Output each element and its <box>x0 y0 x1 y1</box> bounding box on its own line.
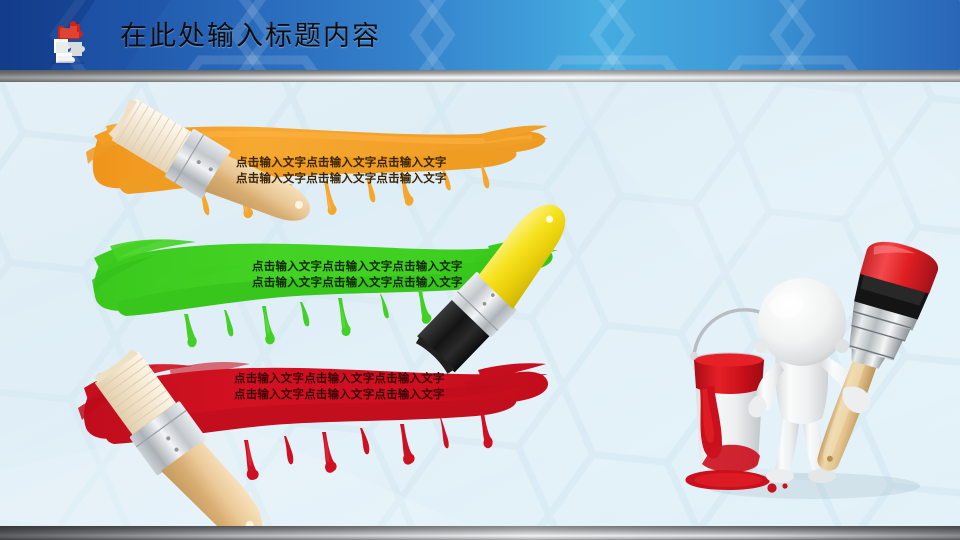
footer-divider-bar <box>0 526 960 540</box>
row-green-text: 点击输入文字点击输入文字点击输入文字 点击输入文字点击输入文字点击输入文字 <box>252 258 463 290</box>
header-divider-bar <box>0 70 960 82</box>
paint-stroke-row-red[interactable]: 点击输入文字点击输入文字点击输入文字 点击输入文字点击输入文字点击输入文字 <box>70 348 550 488</box>
puzzle-icon <box>46 22 96 64</box>
page-title: 在此处输入标题内容 <box>120 18 381 56</box>
green-paint-stroke <box>92 232 562 362</box>
paint-stroke-row-green[interactable]: 点击输入文字点击输入文字点击输入文字 点击输入文字点击输入文字点击输入文字 <box>92 232 562 362</box>
row-orange-text: 点击输入文字点击输入文字点击输入文字 点击输入文字点击输入文字点击输入文字 <box>236 154 447 186</box>
decoration-3d-painter <box>672 236 960 500</box>
slide-canvas: 在此处输入标题内容 <box>0 0 960 540</box>
row-red-text: 点击输入文字点击输入文字点击输入文字 点击输入文字点击输入文字点击输入文字 <box>234 370 445 402</box>
slide-header: 在此处输入标题内容 <box>0 0 960 70</box>
paint-stroke-row-orange[interactable]: 点击输入文字点击输入文字点击输入文字 点击输入文字点击输入文字点击输入文字 <box>80 108 550 228</box>
red-paint-stroke <box>70 348 550 488</box>
